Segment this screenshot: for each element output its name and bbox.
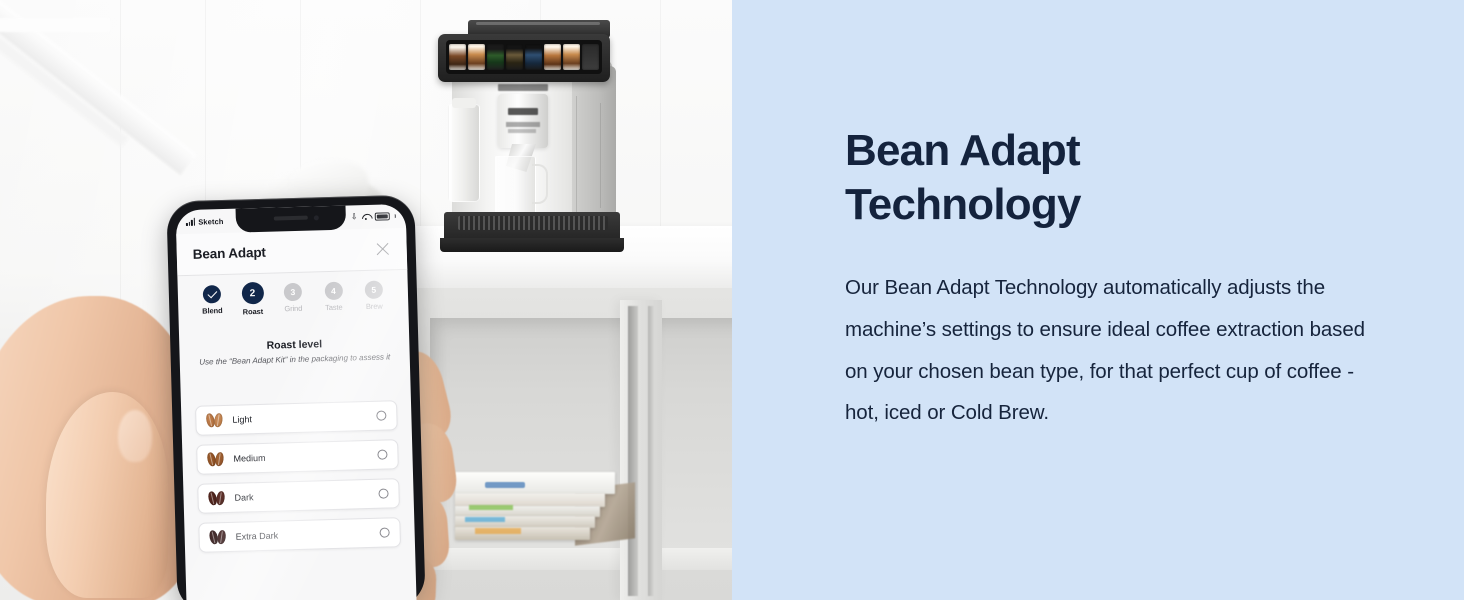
radio-button-medium[interactable]	[377, 449, 387, 459]
step-label-grind: Grind	[273, 303, 313, 313]
close-icon[interactable]	[374, 241, 390, 257]
roast-option-light[interactable]: Light	[195, 400, 398, 436]
step-dot-blend	[203, 285, 221, 303]
app-title: Bean Adapt	[193, 245, 266, 262]
radio-button-light[interactable]	[376, 410, 386, 420]
step-dot-grind: 3	[284, 283, 302, 301]
drink-icon	[525, 44, 542, 70]
step-taste[interactable]: 4 Taste	[313, 281, 354, 312]
roast-option-dark[interactable]: Dark	[197, 478, 400, 514]
battery-icon	[374, 213, 389, 221]
ceiling-beam	[0, 18, 110, 32]
step-dot-brew: 5	[365, 281, 383, 299]
drink-icon	[487, 44, 504, 70]
model-name	[506, 122, 540, 127]
coffee-machine	[424, 8, 628, 258]
book-accent	[469, 505, 513, 510]
step-grind[interactable]: 3 Grind	[273, 282, 314, 313]
glass-cup	[494, 156, 536, 218]
settings-icon	[582, 44, 599, 70]
text-panel: Bean Adapt Technology Our Bean Adapt Tec…	[732, 0, 1464, 600]
battery-tip-icon	[394, 214, 395, 218]
roast-option-label: Light	[232, 411, 367, 425]
machine-brand-logo	[498, 84, 548, 91]
brand-mark	[508, 108, 538, 115]
step-indicator: Blend 2 Roast 3 Grind 4	[178, 276, 409, 328]
smartphone: Sketch ⇩ Bean Adapt B	[166, 195, 425, 600]
coffee-bean-icon	[209, 530, 226, 544]
roast-option-extra-dark[interactable]: Extra Dark	[198, 517, 401, 553]
machine-lid-highlight	[476, 22, 600, 25]
step-roast[interactable]: 2 Roast	[232, 284, 273, 317]
promo-banner: Sketch ⇩ Bean Adapt B	[0, 0, 1464, 600]
drink-icon	[544, 44, 561, 70]
roast-option-label: Medium	[233, 450, 368, 464]
check-icon	[207, 288, 217, 298]
step-label-blend: Blend	[192, 306, 232, 316]
bluetooth-icon: ⇩	[351, 213, 358, 221]
cabinet-slot	[648, 306, 655, 596]
product-photo: Sketch ⇩ Bean Adapt B	[0, 0, 732, 600]
app-header: Bean Adapt	[176, 228, 407, 276]
thumbnail	[118, 410, 152, 462]
machine-body-side	[572, 66, 616, 230]
machine-seam	[600, 103, 601, 208]
carrier-label: Sketch	[198, 216, 223, 226]
headline-line-2: Technology	[845, 180, 1081, 229]
section-subtitle: Use the “Bean Adapt Kit” in the packagin…	[194, 352, 396, 368]
drink-icon	[449, 44, 466, 70]
coffee-bean-icon	[206, 413, 223, 427]
radio-button-extra-dark[interactable]	[379, 527, 389, 537]
milk-frother-unit	[498, 94, 548, 148]
roast-options-list: Light Medium	[195, 400, 401, 553]
book	[455, 472, 615, 494]
page-title: Bean Adapt Technology	[845, 124, 1285, 231]
glass-handle	[532, 164, 548, 204]
book-accent	[475, 528, 521, 534]
headline-line-1: Bean Adapt	[845, 126, 1080, 175]
phone-screen[interactable]: Sketch ⇩ Bean Adapt B	[176, 204, 417, 600]
machine-display	[446, 40, 602, 74]
step-dot-roast: 2	[241, 282, 264, 305]
machine-seam	[576, 96, 577, 216]
wifi-icon	[361, 213, 370, 220]
step-label-roast: Roast	[233, 307, 273, 317]
signal-icon	[186, 218, 196, 226]
drink-icon	[506, 44, 523, 70]
milk-carafe	[448, 104, 480, 202]
model-name	[508, 129, 536, 133]
section-title: Roast level	[179, 336, 409, 354]
drink-icon	[563, 44, 580, 70]
book-stack	[455, 472, 630, 567]
drip-grid	[458, 216, 608, 230]
roast-option-label: Extra Dark	[236, 528, 371, 542]
radio-button-dark[interactable]	[378, 488, 388, 498]
roast-option-medium[interactable]: Medium	[196, 439, 399, 475]
book-logo	[485, 482, 525, 488]
body-copy: Our Bean Adapt Technology automatically …	[845, 267, 1390, 433]
coffee-bean-icon	[208, 491, 225, 505]
step-dot-taste: 4	[324, 282, 342, 300]
coffee-bean-icon	[207, 452, 224, 466]
drink-icon	[468, 44, 485, 70]
milk-carafe-lid	[452, 98, 476, 108]
step-blend[interactable]: Blend	[192, 285, 233, 316]
machine-base	[440, 238, 624, 252]
roast-option-label: Dark	[234, 489, 369, 503]
step-label-brew: Brew	[354, 301, 394, 311]
book-accent	[465, 517, 505, 522]
step-brew[interactable]: 5 Brew	[354, 280, 395, 311]
step-label-taste: Taste	[314, 302, 354, 312]
